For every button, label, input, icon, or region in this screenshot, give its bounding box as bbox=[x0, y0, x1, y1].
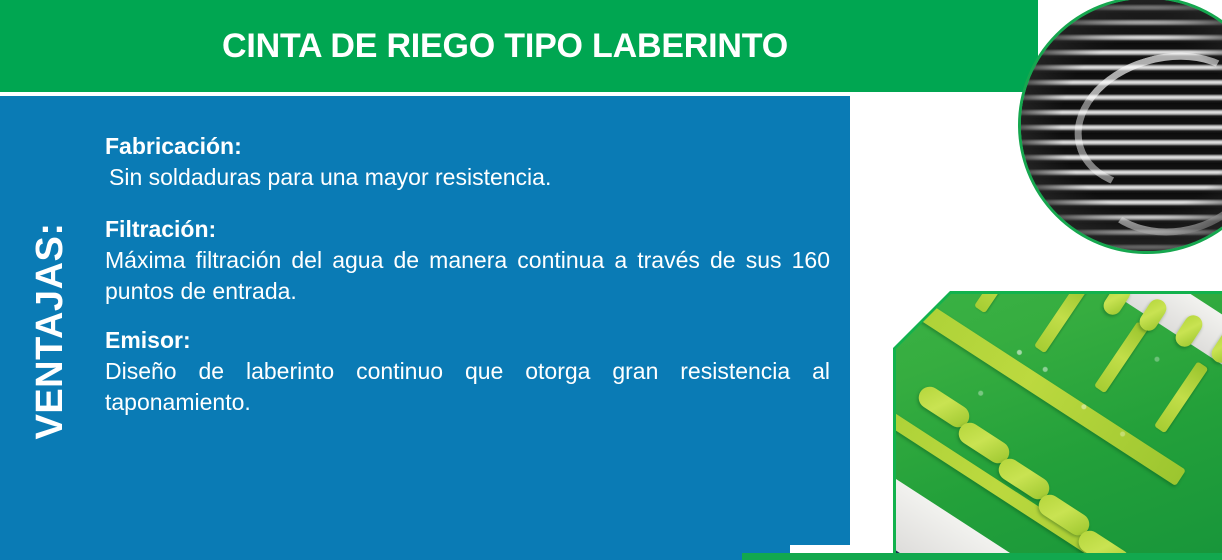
product-photo-inner bbox=[896, 294, 1222, 553]
ventajas-side-label: VENTAJAS: bbox=[27, 181, 73, 481]
advantage-heading: Fabricación: bbox=[105, 132, 845, 161]
advantage-heading: Filtración: bbox=[105, 215, 845, 244]
header-band: CINTA DE RIEGO TIPO LABERINTO bbox=[0, 0, 1038, 92]
panel-gutter bbox=[850, 96, 893, 560]
poster-canvas: CINTA DE RIEGO TIPO LABERINTO VENTAJAS: … bbox=[0, 0, 1222, 560]
advantage-heading: Emisor: bbox=[105, 326, 845, 355]
page-title: CINTA DE RIEGO TIPO LABERINTO bbox=[0, 0, 1010, 92]
advantage-item-filtracion: Filtración: Máxima filtración del agua d… bbox=[105, 215, 845, 306]
advantages-panel: VENTAJAS: Fabricación: Sin soldaduras pa… bbox=[0, 96, 850, 560]
advantage-item-emisor: Emisor: Diseño de laberinto continuo que… bbox=[105, 326, 845, 417]
photo-vignette bbox=[1021, 0, 1222, 251]
advantage-body: Diseño de laberinto continuo que otorga … bbox=[105, 356, 830, 417]
drip-tape-closeup-photo bbox=[1018, 0, 1222, 254]
footer-green-strip bbox=[742, 553, 1222, 560]
tape-water-droplets bbox=[896, 294, 1222, 553]
advantage-body: Sin soldaduras para una mayor resistenci… bbox=[105, 162, 834, 192]
advantages-list: Fabricación: Sin soldaduras para una may… bbox=[105, 132, 845, 437]
advantage-body: Máxima filtración del agua de manera con… bbox=[105, 245, 830, 306]
drip-tape-product-photo bbox=[893, 291, 1222, 553]
advantage-item-fabricacion: Fabricación: Sin soldaduras para una may… bbox=[105, 132, 845, 193]
tape-surface bbox=[896, 294, 1222, 553]
